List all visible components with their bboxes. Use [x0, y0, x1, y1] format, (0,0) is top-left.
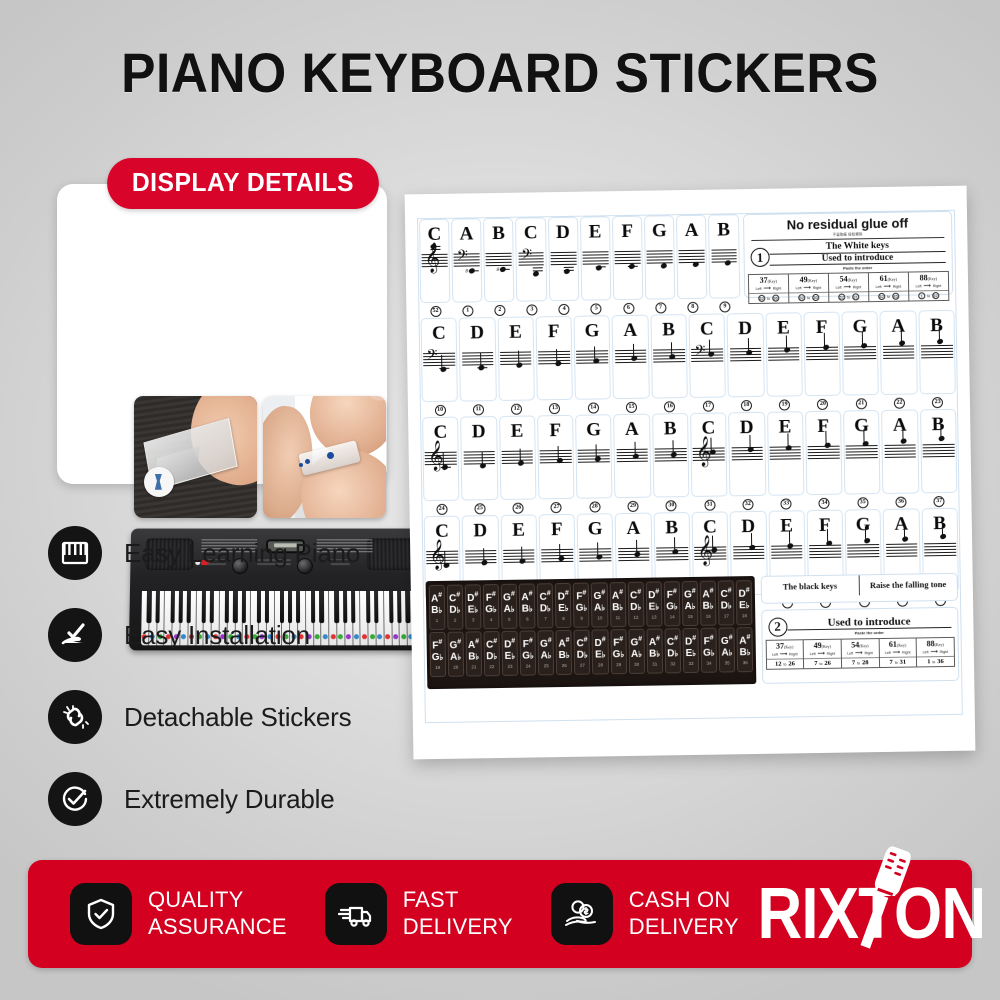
note-letter: E — [777, 318, 790, 337]
note-letter: A — [459, 224, 473, 243]
staff — [655, 448, 687, 462]
black-key-sticker: A#B♭11 — [609, 582, 626, 627]
sticker-peel-photo — [134, 396, 257, 518]
sticker-number: 26 — [562, 663, 567, 668]
flat-name: G♭ — [432, 652, 444, 664]
guitar-headstock-icon — [848, 838, 918, 958]
sharp-name: F# — [576, 590, 586, 603]
black-key-sticker: F#G♭29 — [610, 629, 627, 674]
note-letter: D — [470, 323, 484, 342]
staff — [809, 544, 841, 558]
sticker-number: 15 — [688, 614, 693, 619]
flat-name: B♭ — [468, 651, 479, 663]
note-letter: F — [549, 421, 561, 440]
sticker-number: 33 — [688, 661, 693, 666]
staff — [500, 351, 532, 365]
note-letter: C — [703, 518, 717, 537]
flat-name: D♭ — [721, 601, 732, 613]
black-key-sticker: G#A♭15 — [682, 581, 699, 626]
white-key-sticker: G — [843, 410, 881, 495]
black-key-sticker: A#B♭1 — [428, 585, 445, 630]
black-key-sticker: C#D♭17 — [718, 580, 735, 625]
range-values: 7to26 — [804, 658, 841, 668]
cash-hand-icon — [551, 883, 613, 945]
note-letter: C — [435, 522, 449, 541]
white-key-sticker: B8 — [483, 218, 514, 302]
note-dot-sticker — [144, 467, 174, 497]
shield-check-icon — [70, 883, 132, 945]
info-middle: 1 The White keys Used to introduce Paste… — [747, 240, 948, 272]
direction-label: Left⟶Right — [789, 285, 828, 292]
sticker-number: 21 — [471, 664, 476, 669]
flat-name: A♭ — [540, 650, 551, 662]
white-key-sticker: D — [727, 313, 765, 398]
sticker-number: 11 — [615, 615, 620, 620]
info-box-black-keys: 2 Used to introduce Paste the order 37(K… — [761, 607, 959, 684]
bass-clef-icon: 𝄢 — [457, 249, 468, 266]
staff — [923, 443, 955, 457]
flat-name: E♭ — [468, 605, 479, 617]
white-key-sticker: D — [460, 416, 498, 501]
black-key-sticker: A#B♭21 — [465, 631, 482, 676]
note-letter: B — [932, 415, 945, 434]
bass-clef-icon: 𝄢 — [521, 248, 532, 265]
header-right: Raise the falling tone — [859, 574, 956, 596]
footer-line2: ASSURANCE — [148, 914, 287, 941]
footer-line1: FAST — [403, 887, 513, 914]
sharp-name: A# — [521, 591, 532, 604]
note-letter: G — [588, 519, 603, 538]
sticker-number: 11 — [460, 402, 496, 417]
flat-name: E♭ — [739, 600, 750, 612]
sticker-number: 33 — [768, 496, 804, 511]
black-key-sticker: D#E♭8 — [555, 583, 572, 628]
sharp-name: C# — [576, 637, 587, 650]
sticker-number: 10 — [422, 403, 458, 418]
sticker-number: 29 — [615, 499, 651, 514]
sharp-name: A# — [612, 589, 623, 602]
staff — [924, 542, 956, 556]
black-key-row: F#G♭19G#A♭20A#B♭21C#D♭22D#E♭23F#G♭24G#A♭… — [428, 626, 754, 678]
white-key-sticker: A — [613, 414, 651, 499]
staff — [550, 251, 576, 265]
detach-link-icon — [48, 690, 102, 744]
range-values: 1to36 — [917, 656, 954, 666]
sticker-number: 29 — [616, 662, 621, 667]
note-letter: F — [548, 322, 560, 341]
white-key-sticker: B — [650, 314, 688, 399]
info-middle-text: The White keys Used to introduce Paste t… — [769, 240, 945, 272]
sharp-name: D# — [738, 587, 749, 600]
note-letter: E — [780, 516, 793, 535]
note-letter: B — [662, 320, 675, 339]
flat-name: E♭ — [505, 651, 516, 663]
sharp-name: D# — [648, 589, 659, 602]
note-letter: E — [778, 417, 791, 436]
black-key-sticker: F#G♭24 — [520, 630, 537, 675]
display-details-card — [57, 184, 387, 484]
note-letter: D — [556, 223, 570, 242]
treble-clef-icon: 𝄞 — [428, 442, 444, 468]
white-key-sticker: A𝄢8 — [451, 218, 482, 302]
white-key-sticker: C𝄞 — [419, 219, 450, 303]
staff — [656, 547, 688, 561]
white-key-sticker: C𝄞 — [422, 417, 460, 502]
note-letter: C — [700, 320, 714, 339]
key-range-table: 37(Key) Left⟶Right 52to36 49(Key) Left⟶R… — [748, 271, 949, 304]
flat-name: E♭ — [558, 603, 569, 615]
note-letter: G — [584, 321, 599, 340]
flat-name: D♭ — [449, 605, 460, 617]
staff — [883, 345, 915, 359]
sticker-number: 32 — [670, 661, 675, 666]
direction-label: Left⟶Right — [766, 651, 803, 658]
staff: 𝄞 — [427, 550, 459, 564]
flat-name: G♭ — [522, 651, 534, 663]
step-number: 1 — [750, 248, 769, 267]
sticker-number: 27 — [538, 500, 574, 515]
direction-label: Left⟶Right — [842, 650, 879, 657]
sticker-number: 1 — [452, 303, 482, 317]
feature-label: Easy Installation — [124, 620, 310, 651]
key-range-column: 88(Key) Left⟶Right 1to52 — [909, 272, 948, 301]
feature-item: Easy Installation — [48, 594, 428, 676]
sticker-number: 8 — [678, 300, 708, 314]
note-letter: B — [665, 518, 678, 537]
flat-name: G♭ — [666, 601, 678, 613]
note-letter: A — [891, 317, 905, 336]
note-letter: G — [856, 515, 871, 534]
sharp-name: A# — [468, 639, 479, 652]
note-letter: G — [854, 416, 869, 435]
sharp-name: F# — [667, 589, 677, 602]
white-key-sticker: G — [842, 311, 880, 396]
white-key-sticker: B — [918, 310, 956, 395]
sticker-number: 2 — [454, 617, 457, 622]
white-key-sticker: C𝄢 — [515, 217, 546, 301]
brand-logo: RIXTON — [739, 882, 1000, 947]
flat-name: E♭ — [595, 650, 606, 662]
black-key-sticker: A#B♭31 — [646, 628, 663, 673]
white-key-sticker: D — [728, 412, 766, 497]
sheet-content: C𝄞 A𝄢8 B8 C𝄢 D E F G A B No residual glu… — [417, 210, 963, 723]
white-key-sticker: D — [459, 317, 497, 402]
info-box-white-keys: No residual glue off 不留胶痕 轻松撕除 1 The Whi… — [743, 211, 953, 298]
flat-name: B♭ — [431, 605, 442, 617]
sheet-paper: C𝄞 A𝄢8 B8 C𝄢 D E F G A B No residual glu… — [405, 186, 976, 760]
flat-name: G♭ — [613, 649, 625, 661]
white-key-rows-host: C𝄢DEFGABC𝄢DEFGAB101112131415161718192021… — [420, 310, 961, 615]
flat-name: B♭ — [612, 602, 623, 614]
flat-name: D♭ — [577, 650, 588, 662]
staff: 𝄞 — [693, 447, 725, 461]
staff — [618, 547, 650, 561]
direction-label: Left⟶Right — [917, 649, 954, 656]
range-values: 12to26 — [767, 658, 804, 668]
piano-keys-icon — [48, 526, 102, 580]
staff — [679, 249, 705, 263]
black-key-sticker: F#G♭19 — [429, 632, 446, 677]
sharp-name: G# — [593, 590, 605, 603]
staff: 𝄞 — [425, 451, 457, 465]
white-key-row: C𝄢DEFGABC𝄢DEFGAB — [420, 310, 957, 402]
flat-name: E♭ — [649, 602, 660, 614]
sharp-name: G# — [503, 591, 515, 604]
flat-name: B♭ — [649, 649, 660, 661]
staff — [844, 346, 876, 360]
black-key-sticker: C#D♭22 — [483, 631, 500, 676]
feature-item: Easy Learning Piano — [48, 512, 428, 594]
black-key-sticker: G#A♭35 — [719, 627, 736, 672]
sharp-name: A# — [431, 592, 442, 605]
staff: 𝄢 — [518, 252, 544, 266]
sharp-name: C# — [539, 591, 550, 604]
staff — [615, 349, 647, 363]
white-key-sticker: C𝄢 — [688, 313, 726, 398]
bass-clef-icon: 𝄢 — [694, 344, 705, 361]
sticker-number: 37 — [921, 494, 957, 509]
black-key-sticker: F#G♭4 — [483, 584, 500, 629]
range-values: 1to52 — [909, 290, 948, 300]
key-range-column: 61(Key) Left⟶Right 52to45 — [869, 273, 909, 302]
key-range-column: 37(Key) Left⟶Right 12to26 — [766, 640, 804, 669]
footer-line2: DELIVERY — [629, 914, 739, 941]
sticker-number: 34 — [806, 496, 842, 511]
key-range-table: 37(Key) Left⟶Right 12to26 49(Key) Left⟶R… — [765, 637, 955, 670]
sticker-number: 18 — [728, 398, 764, 413]
note-letter: A — [685, 221, 699, 240]
sticker-number: 19 — [435, 665, 440, 670]
staff — [846, 445, 878, 459]
sticker-number: 21 — [843, 396, 879, 411]
staff — [502, 450, 534, 464]
sticker-number: 7 — [544, 616, 547, 621]
note-letter: B — [933, 514, 946, 533]
flat-name: E♭ — [685, 648, 696, 660]
sticker-number: 52 — [420, 304, 450, 318]
flat-name: D♭ — [630, 602, 641, 614]
staff — [582, 251, 608, 265]
step-number: 2 — [768, 617, 787, 636]
sticker-number: 9 — [710, 299, 740, 313]
black-key-sticker: A#B♭16 — [700, 581, 717, 626]
note-letter: A — [626, 519, 640, 538]
sticker-number: 20 — [453, 664, 458, 669]
note-letter: A — [625, 420, 639, 439]
sharp-name: A# — [702, 588, 713, 601]
note-letter: F — [819, 516, 831, 535]
staff: 𝄞 — [422, 253, 448, 267]
staff — [886, 543, 918, 557]
sharp-name: C# — [720, 588, 731, 601]
sticker-number: 25 — [462, 501, 498, 516]
sticker-number: 26 — [500, 500, 536, 515]
key-range-column: 54(Key) Left⟶Right 7to28 — [842, 639, 880, 668]
white-key-sticker: F — [803, 312, 841, 397]
staff — [848, 544, 880, 558]
footer-item-text: CASH ON DELIVERY — [629, 887, 739, 941]
note-letter: D — [741, 517, 755, 536]
staff — [580, 548, 612, 562]
white-key-sticker: F — [805, 411, 843, 496]
sticker-number: 23 — [507, 663, 512, 668]
sharp-name: F# — [523, 638, 533, 651]
sticker-number: 17 — [724, 613, 729, 618]
sticker-number: 30 — [634, 661, 639, 666]
sharp-name: G# — [449, 639, 461, 652]
sharp-name: C# — [630, 589, 641, 602]
black-keys-panel: A#B♭1C#D♭2D#E♭3F#G♭4G#A♭5A#B♭6C#D♭7D#E♭8… — [425, 576, 756, 689]
staff — [921, 344, 953, 358]
flat-name: D♭ — [667, 648, 678, 660]
footer-bar: QUALITY ASSURANCE FAST DELIVERY — [28, 860, 972, 968]
flat-name: A♭ — [631, 649, 642, 661]
sharp-name: C# — [667, 636, 678, 649]
sticker-number: 14 — [575, 400, 611, 415]
staff — [806, 346, 838, 360]
feature-item: Extremely Durable — [48, 758, 428, 840]
staff — [577, 350, 609, 364]
staff — [616, 448, 648, 462]
range-values: 7to31 — [879, 656, 916, 666]
sticker-sheet: C𝄞 A𝄢8 B8 C𝄢 D E F G A B No residual glu… — [405, 186, 976, 760]
key-count: 37(Key) — [749, 275, 788, 285]
range-values: 7to28 — [842, 657, 879, 667]
footer-item-quality: QUALITY ASSURANCE — [70, 883, 287, 945]
sharp-name: D# — [467, 592, 478, 605]
note-letter: D — [472, 422, 486, 441]
sticker-number: 31 — [652, 661, 657, 666]
sharp-name: G# — [684, 588, 696, 601]
sticker-number: 5 — [581, 301, 611, 315]
sticker-number: 32 — [730, 497, 766, 512]
sharp-name: C# — [449, 592, 460, 605]
staff — [711, 249, 737, 263]
key-range-column: 88(Key) Left⟶Right 1to36 — [917, 638, 954, 667]
footer-line2: DELIVERY — [403, 914, 513, 941]
sticker-number: 1 — [436, 618, 439, 623]
note-letter: A — [623, 321, 637, 340]
note-letter: D — [740, 418, 754, 437]
sharp-name: D# — [685, 635, 696, 648]
key-range-column: 37(Key) Left⟶Right 52to36 — [749, 274, 789, 303]
staff — [538, 350, 570, 364]
key-count: 54(Key) — [842, 640, 879, 650]
flat-name: A♭ — [684, 601, 695, 613]
info-middle-text: Used to introduce Paste the order — [787, 614, 952, 637]
staff — [540, 449, 572, 463]
white-key-sticker: E — [767, 411, 805, 496]
sharp-name: A# — [649, 636, 660, 649]
note-letter: D — [738, 319, 752, 338]
black-key-sticker: D#E♭23 — [501, 631, 518, 676]
staff — [731, 446, 763, 460]
sticker-number: 22 — [489, 664, 494, 669]
note-letter: A — [894, 515, 908, 534]
black-key-sticker: C#D♭32 — [664, 628, 681, 673]
staff — [578, 449, 610, 463]
staff: 𝄢 — [691, 348, 723, 362]
sticker-number: 4 — [549, 302, 579, 316]
black-key-sticker: F#G♭34 — [700, 628, 717, 673]
sticker-number: 24 — [423, 502, 459, 517]
note-letter: C — [433, 423, 447, 442]
white-key-sticker: B — [708, 214, 739, 298]
hand-check-icon — [48, 608, 102, 662]
flat-name: D♭ — [540, 603, 551, 615]
key-count: 88(Key) — [909, 273, 948, 283]
staff — [653, 349, 685, 363]
note-letter: E — [511, 422, 524, 441]
sticker-number: 6 — [613, 301, 643, 315]
white-key-sticker: F — [535, 316, 573, 401]
staff — [463, 451, 495, 465]
delivery-truck-icon — [325, 883, 387, 945]
note-letter: G — [852, 317, 867, 336]
flat-name: A♭ — [594, 603, 605, 615]
key-count: 49(Key) — [789, 275, 828, 285]
white-key-sticker: C𝄢 — [421, 318, 459, 403]
black-key-sticker: D#E♭28 — [592, 629, 609, 674]
white-key-sticker: E — [497, 316, 535, 401]
footer-item-text: QUALITY ASSURANCE — [148, 887, 287, 941]
sticker-number: 31 — [691, 497, 727, 512]
note-letter: C — [427, 225, 441, 244]
range-values: 52to30 — [789, 292, 828, 302]
white-key-sticker: E — [580, 216, 611, 300]
note-letter: F — [817, 417, 829, 436]
staff — [768, 347, 800, 361]
sharp-name: F# — [486, 591, 496, 604]
staff — [769, 446, 801, 460]
sharp-name: C# — [486, 638, 497, 651]
note-letter: B — [930, 316, 943, 335]
staff: 𝄢8 — [454, 253, 480, 267]
sticker-number: 8 — [562, 616, 565, 621]
info-line2: Used to introduce — [787, 615, 951, 631]
sticker-number: 14 — [670, 614, 675, 619]
sticker-number: 4 — [490, 617, 493, 622]
direction-label: Left⟶Right — [804, 651, 841, 658]
staff — [465, 550, 497, 564]
sticker-number: 7 — [645, 300, 675, 314]
direction-label: Left⟶Right — [749, 285, 788, 292]
sticker-number: 36 — [883, 494, 919, 509]
staff — [771, 545, 803, 559]
sharp-name: D# — [558, 590, 569, 603]
black-key-sticker: A#B♭26 — [556, 630, 573, 675]
footer-item-cod: CASH ON DELIVERY — [551, 883, 739, 945]
white-key-sticker: G — [644, 215, 675, 299]
key-count: 49(Key) — [804, 641, 841, 651]
black-key-sticker: C#D♭27 — [574, 630, 591, 675]
footer-item-delivery: FAST DELIVERY — [325, 883, 513, 945]
white-key-sticker: G — [575, 414, 613, 499]
white-key-sticker: G — [574, 315, 612, 400]
sticker-number: 22 — [881, 395, 917, 410]
sticker-number: 25 — [544, 663, 549, 668]
note-letter: B — [664, 419, 677, 438]
sticker-number: 18 — [742, 613, 747, 618]
sticker-number: 13 — [537, 401, 573, 416]
key-count: 54(Key) — [829, 274, 868, 284]
sharp-name: D# — [504, 638, 515, 651]
sticker-number: 35 — [844, 495, 880, 510]
direction-label: Left⟶Right — [829, 284, 868, 291]
note-letter: F — [816, 318, 828, 337]
key-range-column: 61(Key) Left⟶Right 7to31 — [879, 638, 917, 667]
note-letter: F — [551, 520, 563, 539]
